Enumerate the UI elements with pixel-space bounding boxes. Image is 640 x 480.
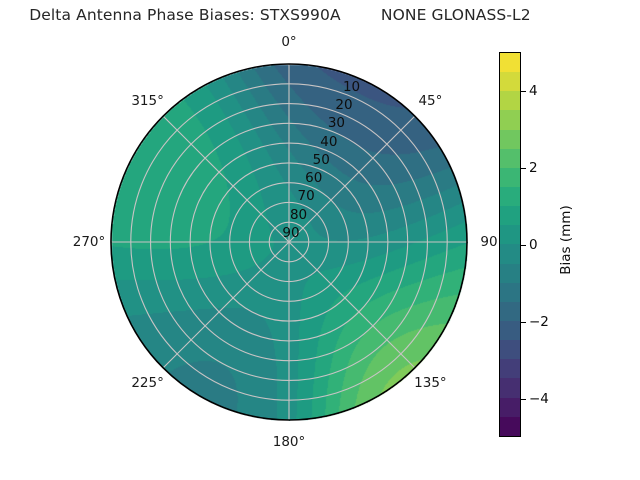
colorbar-tick-label: 0 [529,237,538,253]
colorbar-band [500,187,520,206]
elevation-label-50: 50 [313,152,330,168]
grid-spoke [163,116,289,242]
colorbar-tick-mark [521,168,526,169]
elevation-label-70: 70 [298,188,315,204]
elevation-label-20: 20 [335,97,352,113]
colorbar-band [500,244,520,263]
colorbar-band [500,53,520,72]
polar-plot[interactable] [110,63,468,421]
colorbar-band [500,359,520,378]
colorbar-band [500,206,520,225]
elevation-label-80: 80 [290,207,307,223]
colorbar-tick-mark [521,399,526,400]
azimuth-label-90: 90 [480,234,497,250]
colorbar-band [500,321,520,340]
colorbar-gradient [499,52,521,437]
colorbar-band [500,417,520,436]
elevation-label-90: 90 [282,225,299,241]
azimuth-label-225: 225° [131,375,164,391]
colorbar-tick-mark [521,91,526,92]
elevation-label-40: 40 [320,134,337,150]
colorbar-band [500,283,520,302]
colorbar-tick-label: 2 [529,160,538,176]
colorbar-band [500,398,520,417]
azimuth-label-0: 0° [281,34,296,50]
colorbar-band [500,378,520,397]
colorbar-band [500,264,520,283]
figure-canvas: Delta Antenna Phase Biases: STXS990A NON… [0,0,640,480]
azimuth-label-180: 180° [273,434,306,450]
colorbar-band [500,110,520,129]
colorbar-tick-label: 4 [529,83,538,99]
azimuth-label-135: 135° [414,375,447,391]
azimuth-label-45: 45° [418,93,442,109]
colorbar-tick-mark [521,322,526,323]
colorbar-band [500,225,520,244]
grid-spoke [289,242,415,368]
colorbar-tick-mark [521,245,526,246]
colorbar-tick-label: −2 [529,314,549,330]
elevation-label-60: 60 [305,170,322,186]
colorbar-axis-label: Bias (mm) [558,205,574,274]
colorbar-band [500,302,520,321]
colorbar-band [500,130,520,149]
colorbar-band [500,72,520,91]
page-title: Delta Antenna Phase Biases: STXS990A NON… [0,6,560,24]
elevation-label-30: 30 [328,115,345,131]
polar-grid [111,64,467,420]
grid-spoke [163,242,289,368]
colorbar-band [500,91,520,110]
colorbar-band [500,149,520,168]
colorbar-tick-label: −4 [529,391,549,407]
colorbar-band [500,340,520,359]
azimuth-label-270: 270° [73,234,106,250]
colorbar[interactable]: 420−2−4 [499,52,521,437]
azimuth-label-315: 315° [131,93,164,109]
elevation-label-10: 10 [343,79,360,95]
colorbar-band [500,168,520,187]
polar-contour-svg [110,63,468,421]
